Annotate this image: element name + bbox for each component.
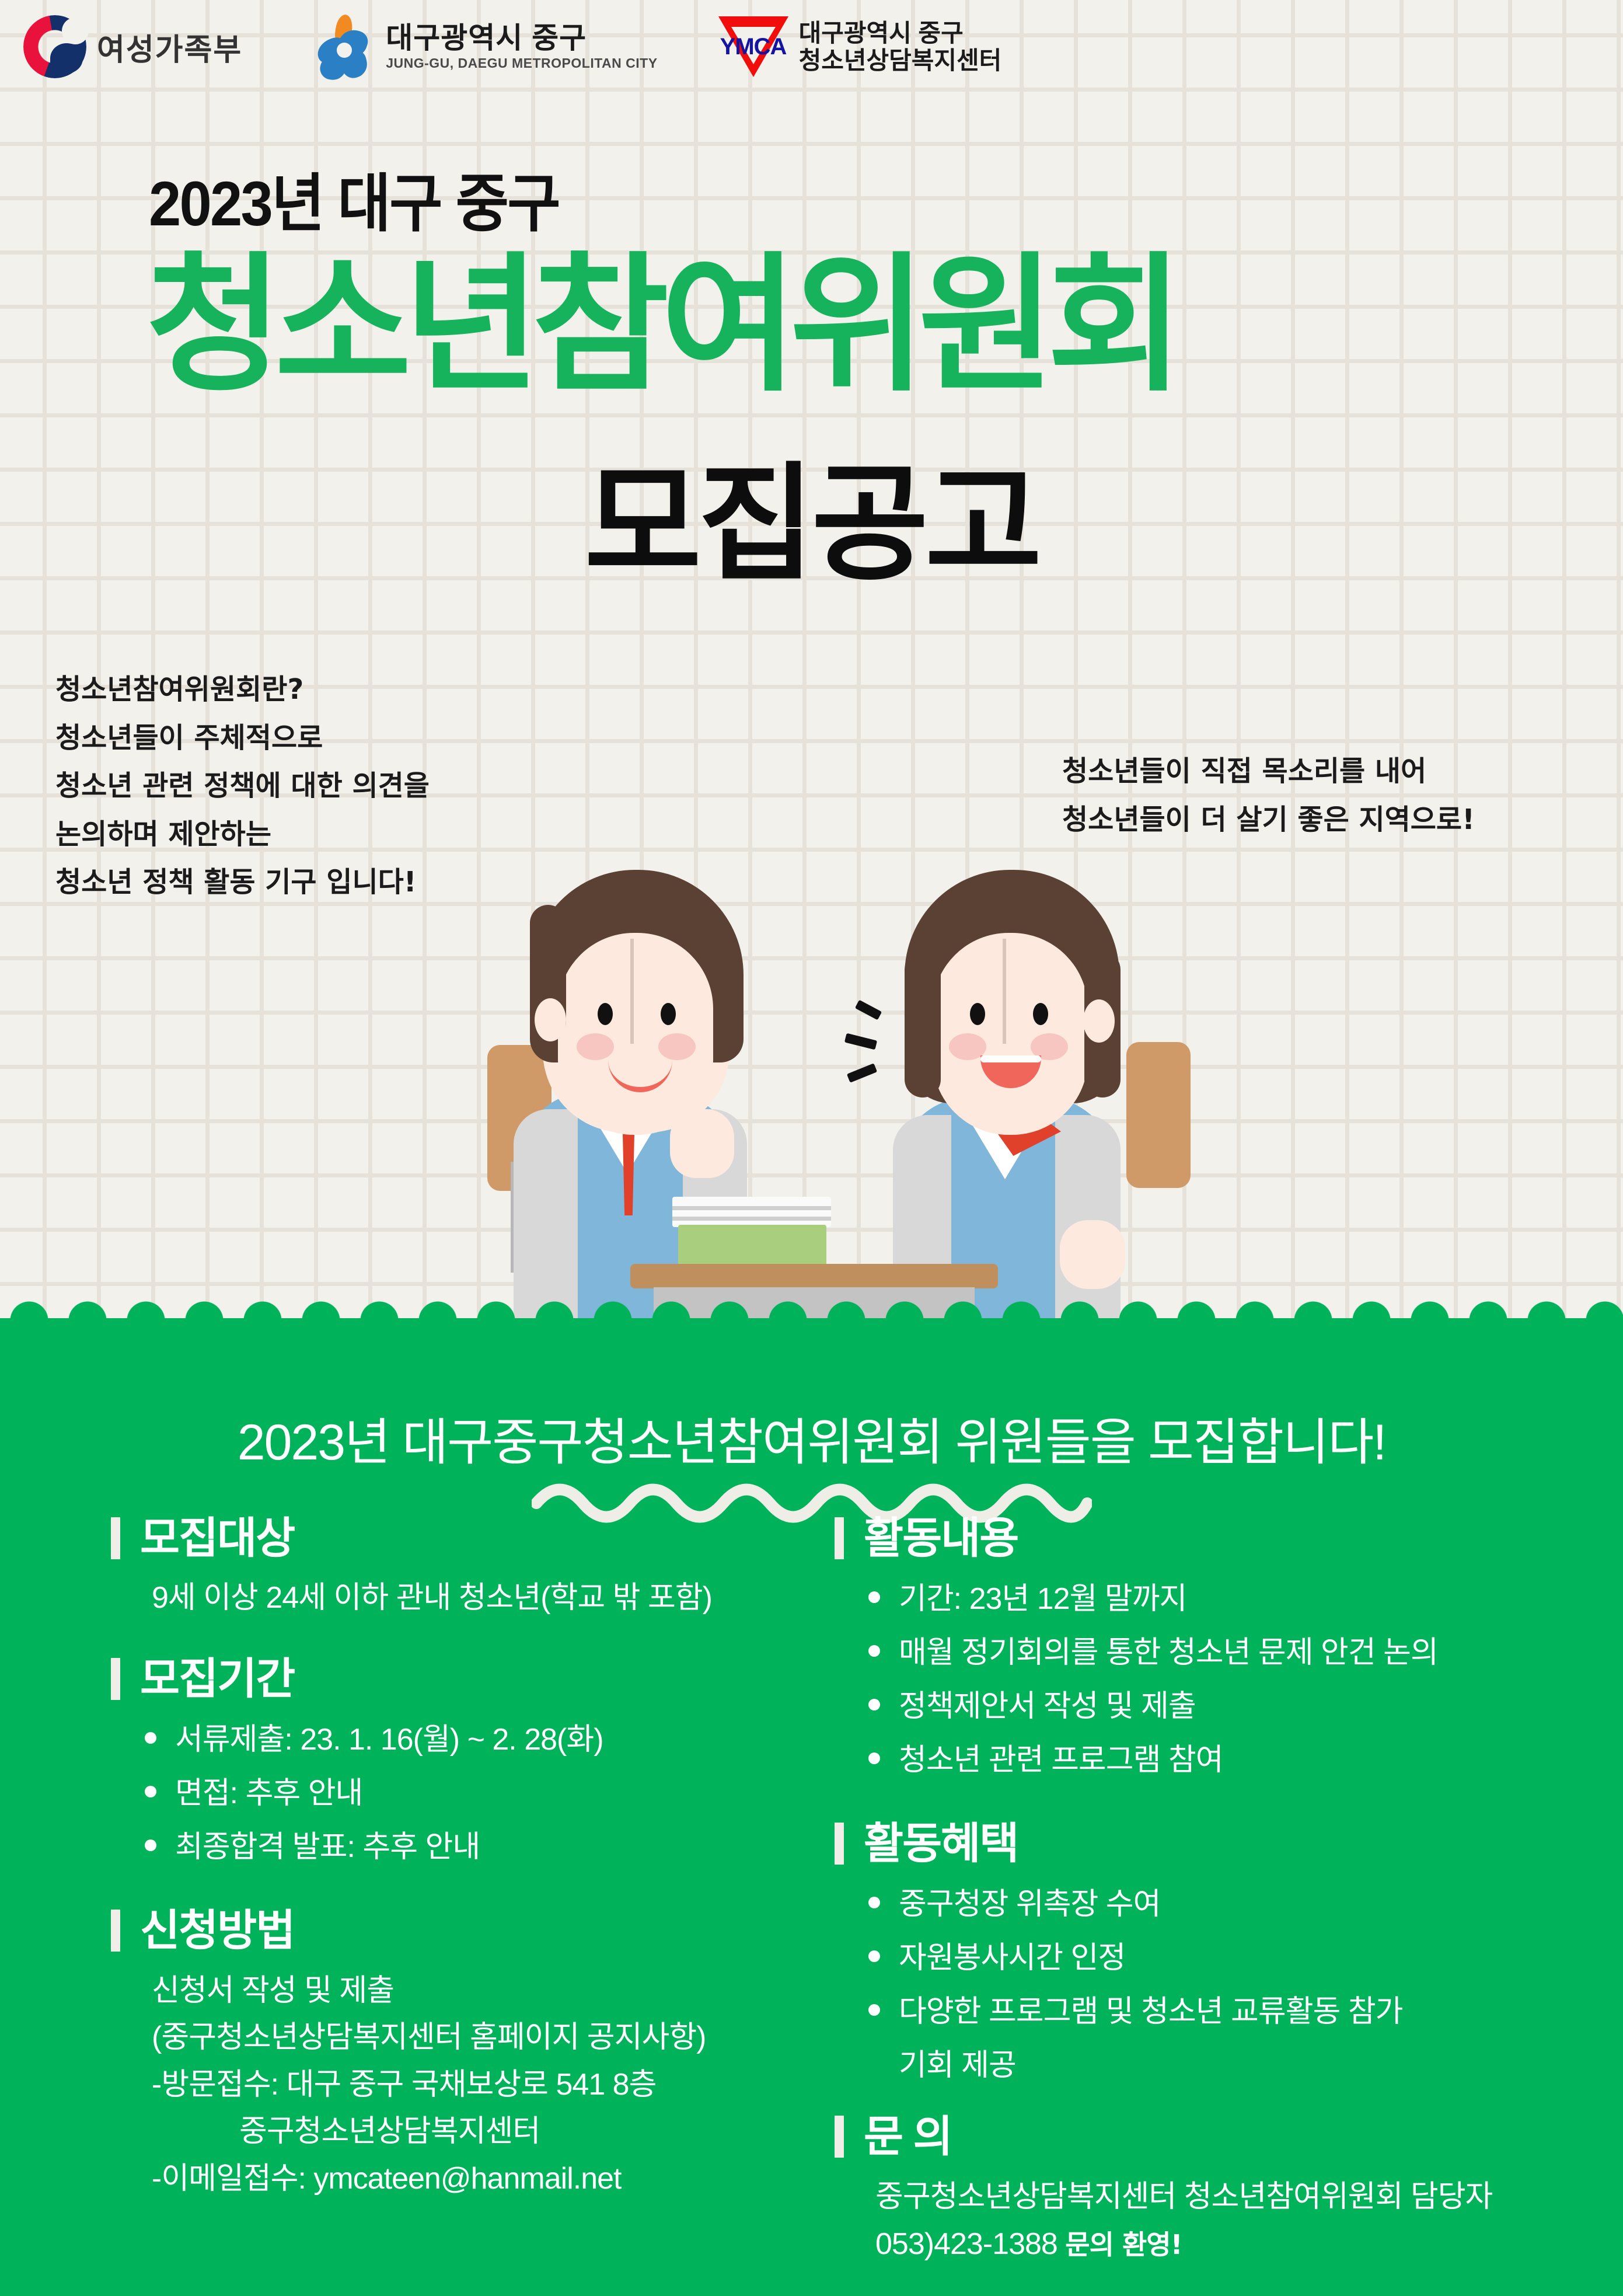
green-book: [678, 1225, 826, 1266]
scalloped-edge: [0, 1288, 1623, 1321]
section-period-header: 모집기간: [111, 1657, 800, 1701]
section-apply: 신청방법 신청서 작성 및 제출 (중구청소년상담복지센터 홈페이지 공지사항)…: [111, 1909, 800, 2203]
list-item: 면접: 추후 안내: [175, 1769, 800, 1817]
list-item: 서류제출: 23. 1. 16(월) ~ 2. 28(화): [175, 1716, 800, 1764]
section-bar-icon: [111, 1517, 120, 1559]
page-subtitle: 모집공고: [0, 461, 1623, 588]
section-contact: 문 의 중구청소년상담복지센터 청소년참여위원회 담당자 053)423-138…: [835, 2115, 1564, 2267]
book-line: [672, 1206, 831, 1210]
list-item: 최종합격 발표: 추후 안내: [175, 1823, 800, 1871]
poster-root: 여성가족부 대구광역시 중구 JUNG-GU, DAEGU METROPOLIT…: [0, 0, 1623, 2296]
section-activities: 활동내용 기간: 23년 12월 말까지 매월 정기회의를 통한 청소년 문제 …: [835, 1517, 1564, 1785]
logo-junggu-label-ko: 대구광역시 중구: [386, 23, 657, 53]
contact-owner: 중구청소년상담복지센터 청소년참여위원회 담당자: [875, 2173, 1564, 2221]
list-item: 정책제안서 작성 및 제출: [899, 1682, 1564, 1730]
students-illustration: [455, 835, 1226, 1360]
section-bar-icon: [835, 1823, 844, 1865]
logo-ymca-textbox: 대구광역시 중구 청소년상담복지센터: [799, 19, 1002, 74]
book-line: [672, 1217, 831, 1221]
contact-phone-row: 053)423-1388 문의 환영!: [875, 2221, 1564, 2268]
column-right: 활동내용 기간: 23년 12월 말까지 매월 정기회의를 통한 청소년 문제 …: [835, 1517, 1564, 2272]
list-item: 다양한 프로그램 및 청소년 교류활동 참가: [899, 1988, 1564, 2036]
kicker-text: 2023년 대구 중구: [149, 153, 559, 244]
section-benefits-header: 활동혜택: [835, 1822, 1564, 1865]
section-contact-body: 중구청소년상담복지센터 청소년참여위원회 담당자 053)423-1388 문의…: [835, 2173, 1564, 2267]
list-item: 청소년 관련 프로그램 참여: [899, 1736, 1564, 1784]
apply-line-4: 중구청소년상담복지센터: [152, 2108, 800, 2155]
taegeuk-emblem-icon: [23, 15, 86, 78]
section-period-list: 서류제출: 23. 1. 16(월) ~ 2. 28(화) 면접: 추후 안내 …: [111, 1716, 800, 1871]
section-target: 모집대상 9세 이상 24세 이하 관내 청소년(학교 밖 포함): [111, 1517, 800, 1621]
section-activities-header: 활동내용: [835, 1517, 1564, 1560]
list-item: 매월 정기회의를 통한 청소년 문제 안건 논의: [899, 1629, 1564, 1677]
logo-mogef: 여성가족부: [23, 15, 242, 78]
logo-mogef-label: 여성가족부: [97, 25, 242, 69]
logo-junggu-textbox: 대구광역시 중구 JUNG-GU, DAEGU METROPOLITAN CIT…: [386, 23, 657, 70]
section-period: 모집기간 서류제출: 23. 1. 16(월) ~ 2. 28(화) 면접: 추…: [111, 1657, 800, 1871]
desk-top: [630, 1264, 998, 1288]
ymca-triangle-icon: YMCA: [716, 12, 791, 82]
jung-gu-flower-icon: [312, 12, 376, 81]
section-bar-icon: [835, 2116, 844, 2158]
section-period-title: 모집기간: [140, 1657, 294, 1701]
apply-line-3: -방문접수: 대구 중구 국채보상로 541 8층: [152, 2061, 800, 2109]
section-bar-icon: [111, 1658, 120, 1700]
contact-phone: 053)423-1388: [875, 2227, 1057, 2261]
section-bar-icon: [835, 1517, 844, 1559]
section-activities-title: 활동내용: [864, 1517, 1018, 1560]
section-contact-title: 문 의: [864, 2115, 952, 2158]
column-left: 모집대상 9세 이상 24세 이하 관내 청소년(학교 밖 포함) 모집기간 서…: [111, 1517, 800, 2207]
intro-text-left: 청소년참여위원회란? 청소년들이 주체적으로 청소년 관련 정책에 대한 의견을…: [55, 666, 430, 907]
section-benefits-title: 활동혜택: [864, 1822, 1018, 1865]
logo-junggu-label-en: JUNG-GU, DAEGU METROPOLITAN CITY: [386, 57, 657, 70]
section-benefits: 활동혜택 중구청장 위촉장 수여 자원봉사시간 인정 다양한 프로그램 및 청소…: [835, 1822, 1564, 2090]
ymca-wordmark: YMCA: [716, 34, 791, 60]
list-item: 중구청장 위촉장 수여: [899, 1880, 1564, 1928]
logo-strip: 여성가족부 대구광역시 중구 JUNG-GU, DAEGU METROPOLIT…: [0, 0, 1623, 93]
section-target-header: 모집대상: [111, 1517, 800, 1560]
apply-line-5: -이메일접수: ymcateen@hanmail.net: [152, 2155, 800, 2203]
apply-line-2: (중구청소년상담복지센터 홈페이지 공지사항): [152, 2014, 800, 2061]
logo-junggu: 대구광역시 중구 JUNG-GU, DAEGU METROPOLITAN CIT…: [312, 12, 657, 81]
apply-line-1: 신청서 작성 및 제출: [152, 1967, 800, 2015]
book-stack: [672, 1197, 831, 1227]
section-apply-header: 신청방법: [111, 1909, 800, 1952]
list-item: 기간: 23년 12월 말까지: [899, 1575, 1564, 1623]
section-contact-header: 문 의: [835, 2115, 1564, 2158]
section-target-body: 9세 이상 24세 이하 관내 청소년(학교 밖 포함): [111, 1575, 800, 1621]
logo-ymca-label-line2: 청소년상담복지센터: [799, 47, 1002, 74]
section-benefits-list: 중구청장 위촉장 수여 자원봉사시간 인정 다양한 프로그램 및 청소년 교류활…: [835, 1880, 1564, 2090]
section-apply-title: 신청방법: [140, 1909, 294, 1952]
section-activities-list: 기간: 23년 12월 말까지 매월 정기회의를 통한 청소년 문제 안건 논의…: [835, 1575, 1564, 1785]
logo-ymca-label-line1: 대구광역시 중구: [799, 19, 1002, 47]
page-title: 청소년참여위원회: [146, 251, 1488, 400]
chair-right: [1126, 1042, 1191, 1188]
section-target-title: 모집대상: [140, 1517, 294, 1560]
intro-text-right: 청소년들이 직접 목소리를 내어 청소년들이 더 살기 좋은 지역으로!: [1062, 747, 1475, 844]
list-item: 자원봉사시간 인정: [899, 1934, 1564, 1982]
section-apply-body: 신청서 작성 및 제출 (중구청소년상담복지센터 홈페이지 공지사항) -방문접…: [111, 1967, 800, 2203]
banner-headline: 2023년 대구중구청소년참여위원회 위원들을 모집합니다!: [0, 1401, 1623, 1474]
list-item-continuation: 기회 제공: [899, 2041, 1564, 2089]
section-bar-icon: [111, 1910, 120, 1952]
logo-ymca: YMCA 대구광역시 중구 청소년상담복지센터: [716, 12, 1002, 82]
contact-note: 문의 환영!: [1065, 2229, 1182, 2260]
